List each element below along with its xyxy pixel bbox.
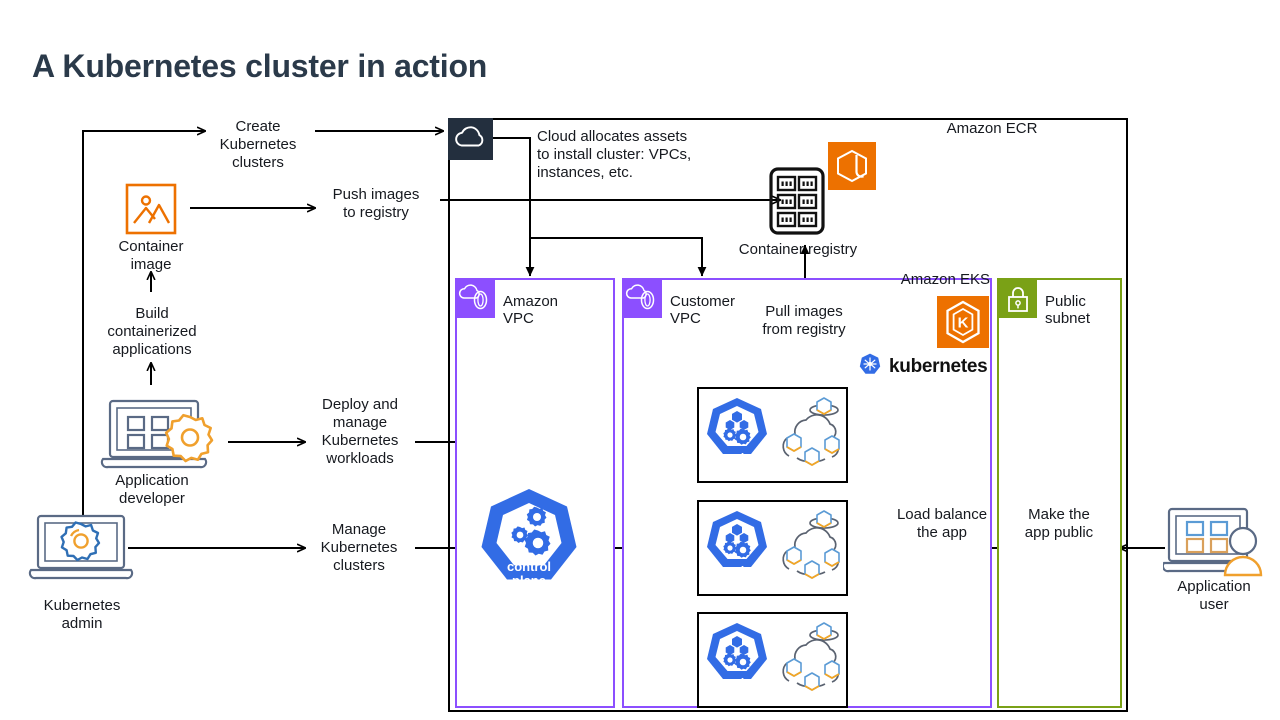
ecr-box-icon xyxy=(828,142,876,190)
image-icon xyxy=(125,183,177,240)
build-apps-label: Build containerized applications xyxy=(93,305,211,359)
public-subnet-label: Public subnet xyxy=(1045,293,1090,327)
containers-cloud-icon xyxy=(777,507,847,594)
laptop-user-icon xyxy=(1163,505,1271,588)
cloud-allocates-label: Cloud allocates assets to install cluste… xyxy=(537,128,757,182)
push-images-label: Push images to registry xyxy=(317,186,435,222)
deploy-workloads-label: Deploy and manage Kubernetes workloads xyxy=(305,396,415,468)
kubernetes-admin-label: Kubernetes admin xyxy=(22,597,142,633)
k8s-node-icon: node xyxy=(703,396,771,479)
customer-vpc-label: Customer VPC xyxy=(670,293,735,327)
vpc-icon xyxy=(457,280,495,318)
k8s-node-icon: node xyxy=(703,621,771,704)
ecr-service-title: Amazon ECR xyxy=(892,120,1092,138)
pull-images-label: Pull images from registry xyxy=(748,303,860,339)
k8s-node-icon: node xyxy=(703,509,771,592)
cloud-icon xyxy=(448,118,493,160)
diagram-canvas: A Kubernetes cluster in action xyxy=(0,0,1280,720)
manage-clusters-label: Manage Kubernetes clusters xyxy=(303,521,415,575)
containers-cloud-icon xyxy=(777,619,847,706)
public-subnet-box xyxy=(997,278,1122,708)
make-public-label: Make the app public xyxy=(1000,506,1118,542)
amazon-vpc-label: Amazon VPC xyxy=(503,293,558,327)
control-plane-label: control plane xyxy=(474,560,584,588)
lock-icon xyxy=(999,280,1037,318)
create-clusters-label: Create Kubernetes clusters xyxy=(203,118,313,172)
container-registry-icon xyxy=(768,166,826,241)
eks-hex-k-icon: K xyxy=(937,296,989,348)
svg-text:node: node xyxy=(721,677,754,691)
laptop-gear-icon xyxy=(100,395,226,478)
kubernetes-wordmark: kubernetes xyxy=(858,352,987,381)
svg-text:node: node xyxy=(721,452,754,466)
application-developer-label: Application developer xyxy=(92,472,212,508)
svg-text:K: K xyxy=(958,315,969,332)
eks-service-title: Amazon EKS xyxy=(880,271,990,289)
container-image-label: Container image xyxy=(91,238,211,274)
kubernetes-wordmark-text: kubernetes xyxy=(889,356,987,378)
kubernetes-helm-icon xyxy=(858,352,882,381)
containers-cloud-icon xyxy=(777,394,847,481)
laptop-gear-icon xyxy=(28,512,136,589)
application-user-label: Application user xyxy=(1155,578,1273,614)
load-balance-label: Load balance the app xyxy=(888,506,996,542)
vpc-icon xyxy=(624,280,662,318)
container-registry-caption: Container registry xyxy=(703,241,893,259)
svg-text:node: node xyxy=(721,565,754,579)
